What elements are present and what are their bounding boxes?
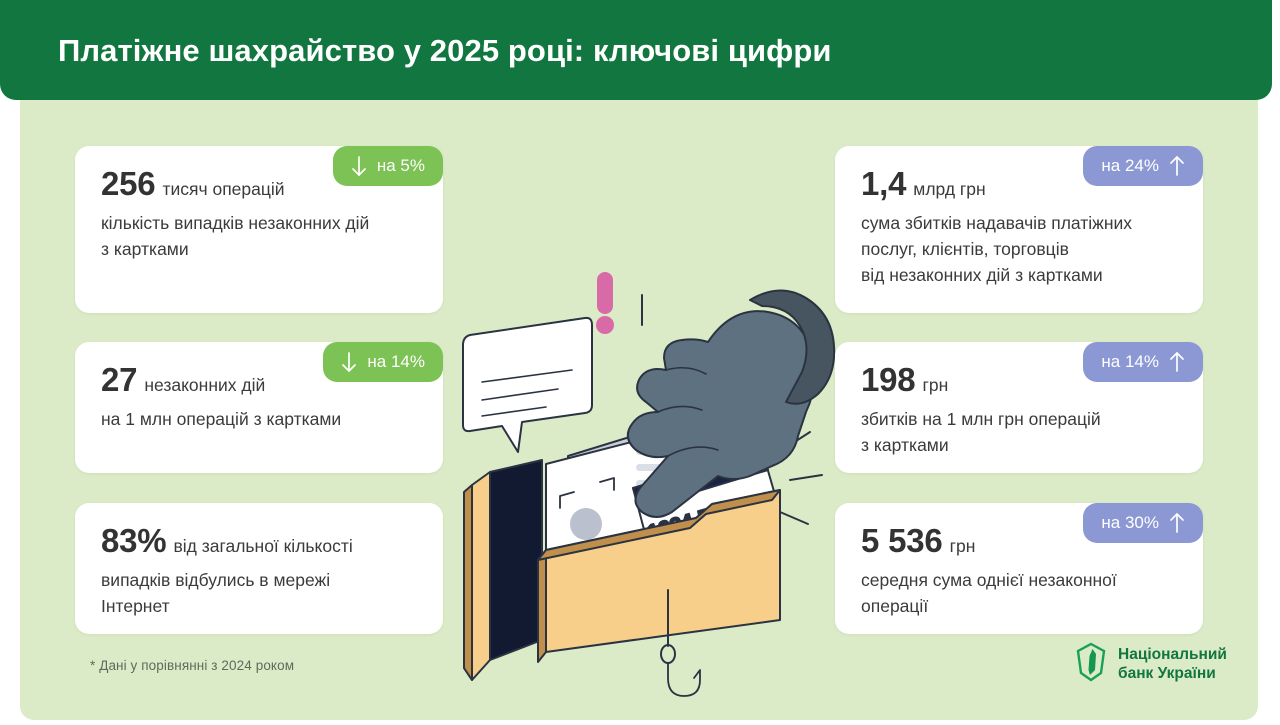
- trend-badge-up: на 14%: [1083, 342, 1203, 382]
- page-title: Платіжне шахрайство у 2025 році: ключові…: [58, 30, 1188, 72]
- trend-badge-down: на 14%: [323, 342, 443, 382]
- stat-unit: грн: [922, 375, 948, 395]
- trend-badge-down: на 5%: [333, 146, 443, 186]
- arrow-up-icon: [1169, 511, 1185, 535]
- stat-description: збитків на 1 млн грн операцій з картками: [861, 406, 1177, 458]
- infographic-poster: Платіжне шахрайство у 2025 році: ключові…: [0, 0, 1280, 720]
- stat-value: 256: [101, 165, 155, 202]
- arrow-up-icon: [1169, 154, 1185, 178]
- stat-headline: 83%від загальної кількості: [101, 527, 417, 560]
- stat-value: 5 536: [861, 522, 943, 559]
- stat-description: сума збитків надавачів платіжних послуг,…: [861, 210, 1177, 288]
- stat-card: на 5%256тисяч операційкількість випадків…: [75, 146, 443, 313]
- stat-description: випадків відбулись в мережі Інтернет: [101, 567, 417, 619]
- stat-value: 83%: [101, 522, 166, 559]
- trend-badge-label: на 14%: [367, 352, 425, 372]
- stat-description: кількість випадків незаконних дій з карт…: [101, 210, 417, 262]
- stat-description: середня сума однієї незаконної операції: [861, 567, 1177, 619]
- trend-badge-up: на 30%: [1083, 503, 1203, 543]
- stat-value: 198: [861, 361, 915, 398]
- stat-description: на 1 млн операцій з картками: [101, 406, 417, 432]
- stat-unit: від загальної кількості: [173, 536, 352, 556]
- stat-card: на 14%27незаконних дійна 1 млн операцій …: [75, 342, 443, 473]
- header-bar: Платіжне шахрайство у 2025 році: ключові…: [0, 0, 1272, 100]
- stat-card: на 14%198грнзбитків на 1 млн грн операці…: [835, 342, 1203, 473]
- stat-card-body: 83%від загальної кількостівипадків відбу…: [75, 503, 443, 639]
- stat-value: 27: [101, 361, 137, 398]
- stat-unit: грн: [950, 536, 976, 556]
- stat-unit: тисяч операцій: [162, 179, 284, 199]
- nbu-logo-text: Національний банк України: [1118, 645, 1227, 683]
- nbu-logo: Національний банк України: [1075, 638, 1240, 690]
- stat-unit: незаконних дій: [144, 375, 265, 395]
- stat-card: 83%від загальної кількостівипадків відбу…: [75, 503, 443, 634]
- stat-value: 1,4: [861, 165, 906, 202]
- trend-badge-label: на 30%: [1101, 513, 1159, 533]
- nbu-emblem-icon: [1075, 642, 1107, 687]
- fraud-illustration: 1234 5678: [450, 120, 840, 720]
- arrow-down-icon: [341, 350, 357, 374]
- stat-unit: млрд грн: [913, 179, 985, 199]
- trend-badge-label: на 14%: [1101, 352, 1159, 372]
- stat-card: на 30%5 536грнсередня сума однієї незако…: [835, 503, 1203, 634]
- arrow-up-icon: [1169, 350, 1185, 374]
- speech-bubble-icon: [463, 318, 592, 452]
- trend-badge-up: на 24%: [1083, 146, 1203, 186]
- trend-badge-label: на 5%: [377, 156, 425, 176]
- content-panel: 1234 5678: [20, 100, 1258, 720]
- arrow-down-icon: [351, 154, 367, 178]
- footnote: * Дані у порівнянні з 2024 роком: [90, 658, 294, 673]
- exclamation-icon: [596, 272, 614, 334]
- trend-badge-label: на 24%: [1101, 156, 1159, 176]
- stat-card: на 24%1,4млрд грнсума збитків надавачів …: [835, 146, 1203, 313]
